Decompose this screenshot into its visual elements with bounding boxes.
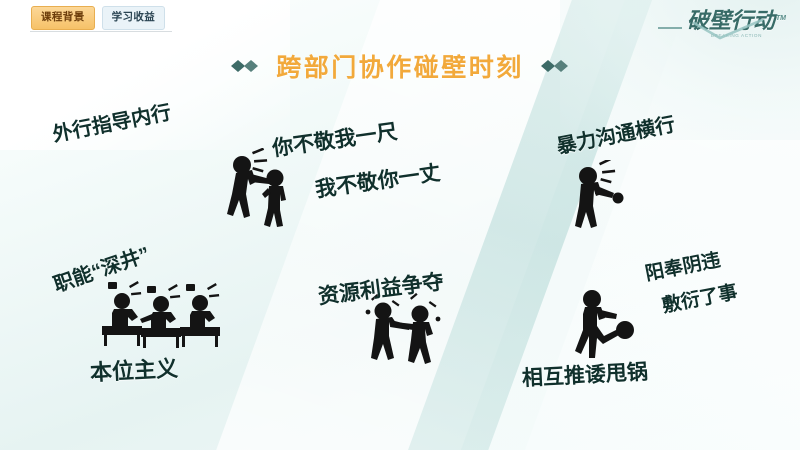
tab-bar: 课程背景 学习收益	[31, 6, 165, 30]
person-kicking-ball-icon	[565, 284, 637, 367]
tab-course-background[interactable]: 课程背景	[31, 6, 95, 30]
label-departmentalism: 本位主义	[89, 355, 178, 387]
logo-text-group: 破壁行动TM	[687, 10, 786, 32]
logo-dash-icon	[658, 27, 682, 29]
logo-tm-mark: TM	[776, 15, 786, 22]
diamond-ornament-left-icon	[230, 59, 260, 73]
logo-subtitle: BREAKING ACTION	[687, 33, 786, 38]
diamond-ornament-right-icon	[540, 59, 570, 73]
title-row: 跨部门协作碰壁时刻	[0, 48, 800, 84]
logo-mark: 破壁行动TM BREAKING ACTION	[687, 10, 786, 38]
page-title: 跨部门协作碰壁时刻	[276, 48, 524, 84]
three-people-at-desks-icon	[96, 276, 224, 355]
person-shouting-icon	[568, 160, 630, 237]
tab-learning-benefits[interactable]: 学习收益	[102, 6, 166, 30]
brand-logo: 破壁行动TM BREAKING ACTION	[658, 10, 786, 38]
slide-canvas: 课程背景 学习收益 破壁行动TM BREAKING ACTION 跨部门协作碰壁…	[0, 0, 800, 450]
topbar-divider	[30, 31, 172, 32]
logo-wordmark: 破壁行动	[687, 8, 775, 33]
